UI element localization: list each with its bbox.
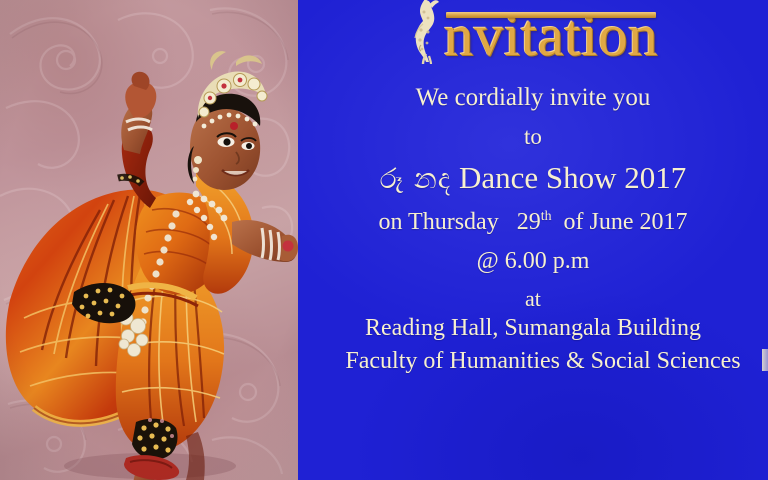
show-title-sinhala: රූ නද: [380, 162, 451, 195]
title-shirorekha-bar: [446, 12, 656, 18]
date-suffix: of June 2017: [564, 209, 688, 235]
spotted-deer-icon: [408, 0, 448, 64]
invitation-text-panel: nvitation We cordially invite you to රූ …: [298, 0, 768, 480]
date-day: 29: [517, 209, 541, 235]
date-ordinal: th: [541, 209, 552, 224]
dancer-photo-panel: [0, 0, 298, 480]
invite-line: We cordially invite you: [298, 84, 768, 112]
invitation-card: nvitation We cordially invite you to රූ …: [0, 0, 768, 480]
venue-line-2: Faculty of Humanities & Social Sciences: [308, 348, 768, 375]
invitation-title: nvitation: [298, 0, 768, 68]
date-prefix: on Thursday: [378, 209, 498, 235]
invitation-title-word: nvitation: [444, 0, 658, 68]
time-line: @ 6.00 p.m: [298, 248, 768, 275]
venue-line-1: Reading Hall, Sumangala Building: [298, 315, 768, 342]
show-title-english: Dance Show 2017: [459, 160, 686, 195]
at-line: at: [298, 286, 768, 312]
to-line: to: [298, 124, 768, 150]
date-line: on Thursday 29th of June 2017: [298, 209, 768, 236]
dancer-figure: [0, 0, 298, 480]
show-title-line: රූ නද Dance Show 2017: [298, 160, 768, 196]
invitation-content: nvitation We cordially invite you to රූ …: [298, 0, 768, 480]
